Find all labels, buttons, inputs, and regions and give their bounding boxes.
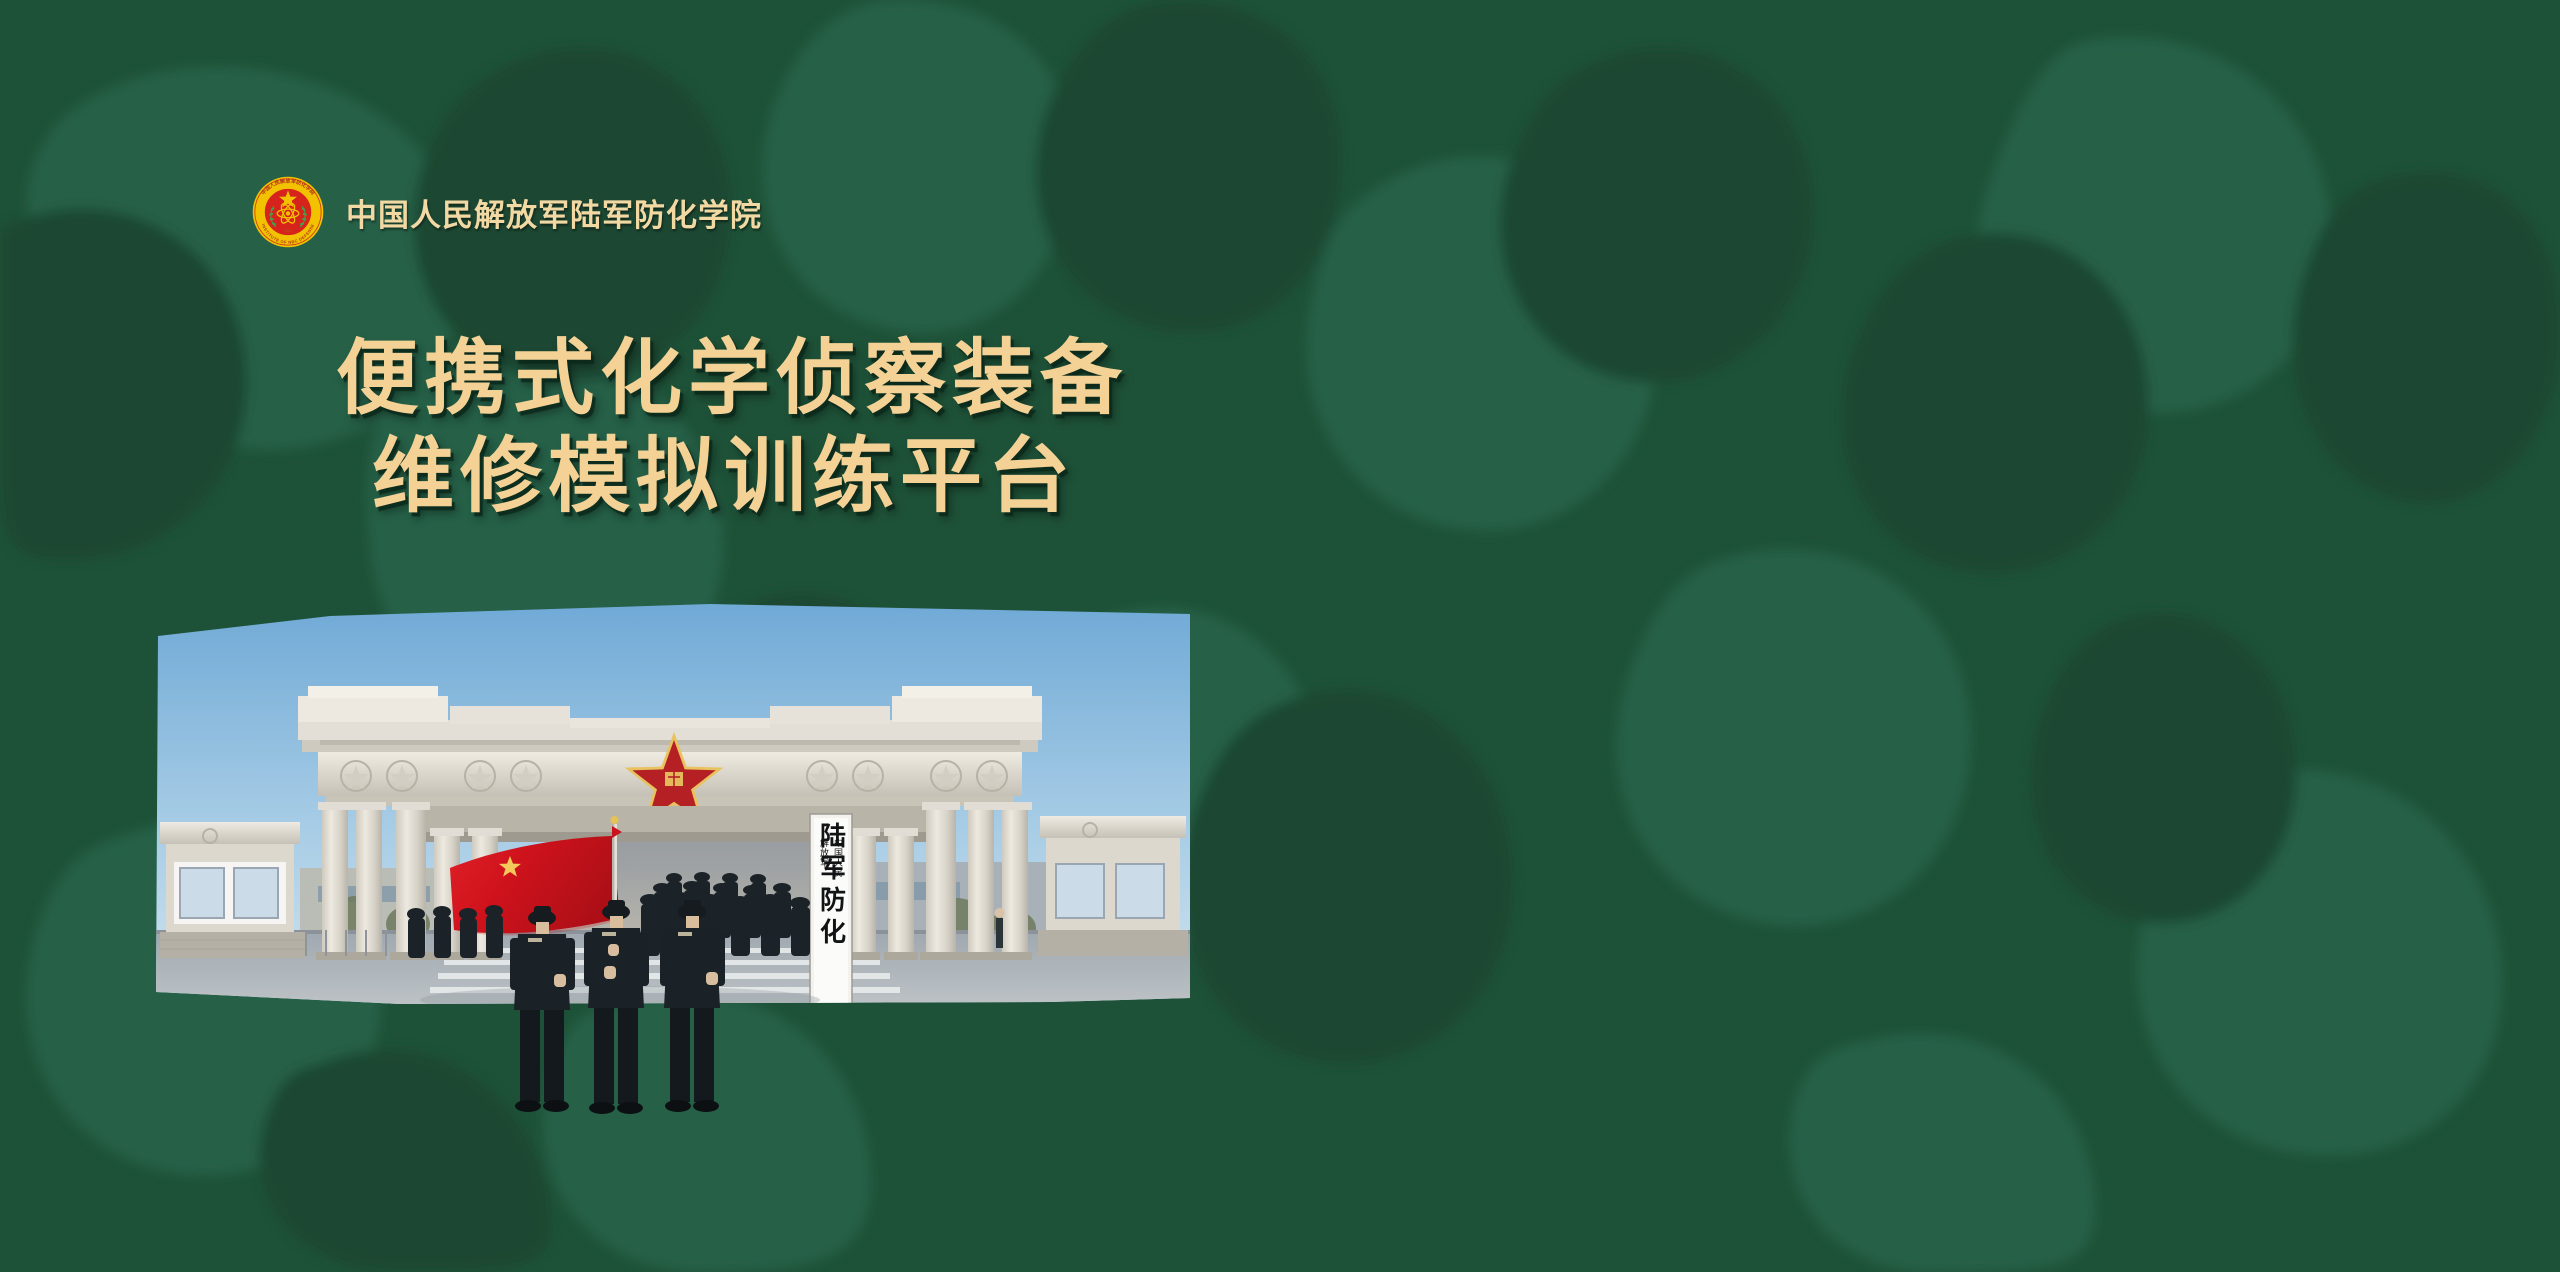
page-title-line-2: 维修模拟训练平台 [336,428,1128,526]
page-title-line-1: 便携式化学侦察装备 [336,330,1128,428]
academy-emblem-icon: 中国人民解放军防化学院 INSTITUTE OF NBC DEFENSE [252,176,324,248]
organization-name: 中国人民解放军陆军防化学院 [346,190,762,235]
gate-vertical-sign: 中国人民 解放军 陆军防化 [810,814,852,1010]
academy-gate-parade-photo: 中国人民 解放军 陆军防化 [150,600,1190,1140]
academy-gate-parade-illustration: 中国人民 解放军 陆军防化 [150,600,1190,1140]
page-title: 便携式化学侦察装备 维修模拟训练平台 [336,330,1128,526]
splash-screen: 中国人民解放军防化学院 INSTITUTE OF NBC DEFENSE [0,0,2560,1272]
svg-text:陆军防化: 陆军防化 [817,821,846,950]
brand-header: 中国人民解放军防化学院 INSTITUTE OF NBC DEFENSE [252,176,762,248]
front-rank-soldiers [510,900,725,1114]
